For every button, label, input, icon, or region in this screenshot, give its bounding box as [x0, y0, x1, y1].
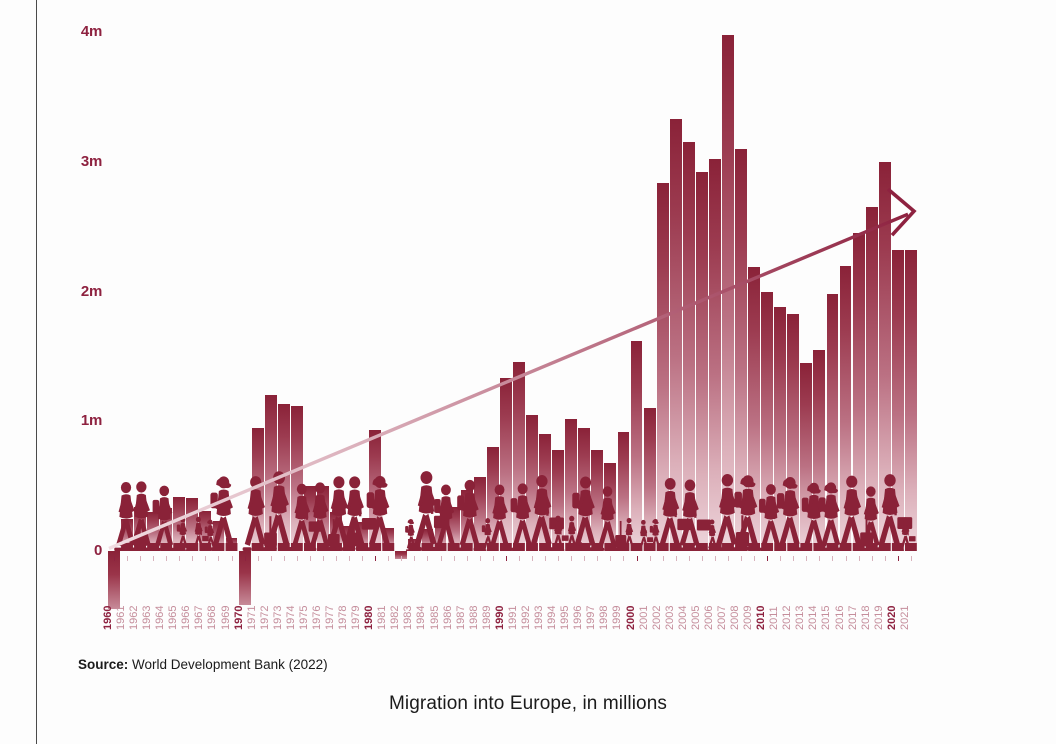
x-axis-tick-mark	[232, 556, 233, 561]
x-axis-tick-mark	[806, 556, 807, 561]
x-axis-tick-mark	[663, 556, 664, 561]
x-axis-tick-mark	[571, 556, 572, 561]
y-axis: 4m3m2m1m0	[0, 0, 102, 744]
x-axis-tick-mark	[793, 556, 794, 561]
x-axis-tick-label: 1973	[272, 606, 284, 630]
x-axis-tick-mark	[297, 556, 298, 561]
y-axis-tick-label: 4m	[81, 23, 102, 40]
x-axis-tick-mark	[767, 556, 768, 561]
chart-title: Migration into Europe, in millions	[0, 693, 1056, 715]
x-axis-tick-label: 1982	[389, 606, 401, 630]
x-axis-tick-mark	[754, 556, 755, 561]
x-axis-tick-mark	[584, 556, 585, 561]
x-axis-tick-label: 1969	[220, 606, 232, 630]
x-axis-tick-mark	[650, 556, 651, 561]
x-axis-tick-label: 1964	[154, 606, 166, 630]
x-axis-tick-label: 1999	[611, 606, 623, 630]
x-axis-tick-mark	[610, 556, 611, 561]
x-axis: 1960196119621963196419651966196719681969…	[108, 556, 918, 636]
x-axis-tick-label: 2010	[755, 606, 767, 630]
x-axis-tick-label: 1974	[285, 606, 297, 630]
x-axis-tick-mark	[454, 556, 455, 561]
source-label: Source:	[78, 657, 128, 672]
x-axis-tick-label: 1983	[402, 606, 414, 630]
x-axis-tick-label: 1965	[167, 606, 179, 630]
x-axis-tick-label: 2012	[781, 606, 793, 630]
x-axis-tick-label: 2013	[794, 606, 806, 630]
x-axis-tick-label: 2016	[834, 606, 846, 630]
x-axis-tick-label: 2014	[807, 606, 819, 630]
x-axis-tick-mark	[205, 556, 206, 561]
x-axis-tick-label: 1991	[507, 606, 519, 630]
x-axis-tick-label: 1963	[141, 606, 153, 630]
source-value: World Development Bank (2022)	[132, 657, 328, 672]
x-axis-tick-label: 1961	[115, 606, 127, 630]
x-axis-tick-label: 1970	[233, 606, 245, 630]
x-axis-tick-mark	[349, 556, 350, 561]
x-axis-tick-mark	[728, 556, 729, 561]
x-axis-tick-mark	[545, 556, 546, 561]
x-axis-tick-label: 1994	[546, 606, 558, 630]
y-axis-tick-label: 0	[94, 542, 102, 559]
x-axis-tick-label: 2005	[690, 606, 702, 630]
x-axis-tick-label: 2017	[847, 606, 859, 630]
x-axis-tick-label: 2001	[638, 606, 650, 630]
x-axis-tick-label: 2009	[742, 606, 754, 630]
x-axis-tick-label: 1997	[585, 606, 597, 630]
x-axis-tick-mark	[819, 556, 820, 561]
x-axis-tick-label: 1972	[259, 606, 271, 630]
x-axis-tick-mark	[179, 556, 180, 561]
x-axis-tick-mark	[140, 556, 141, 561]
x-axis-tick-label: 1962	[128, 606, 140, 630]
x-axis-tick-mark	[741, 556, 742, 561]
x-axis-tick-label: 1986	[442, 606, 454, 630]
plot-area	[108, 32, 918, 551]
x-axis-tick-label: 2020	[886, 606, 898, 630]
x-axis-tick-mark	[637, 556, 638, 561]
x-axis-tick-mark	[519, 556, 520, 561]
x-axis-tick-mark	[885, 556, 886, 561]
x-axis-tick-mark	[271, 556, 272, 561]
x-axis-tick-label: 2002	[651, 606, 663, 630]
x-axis-tick-label: 1996	[572, 606, 584, 630]
x-axis-tick-mark	[375, 556, 376, 561]
x-axis-tick-mark	[597, 556, 598, 561]
x-axis-tick-label: 2018	[860, 606, 872, 630]
x-axis-tick-label: 2006	[703, 606, 715, 630]
source-caption: Source: World Development Bank (2022)	[78, 657, 328, 672]
x-axis-tick-label: 1995	[559, 606, 571, 630]
x-axis-tick-mark	[480, 556, 481, 561]
x-axis-tick-label: 1979	[350, 606, 362, 630]
x-axis-tick-mark	[859, 556, 860, 561]
x-axis-tick-label: 1968	[206, 606, 218, 630]
x-axis-tick-label: 1967	[193, 606, 205, 630]
x-axis-tick-label: 2021	[899, 606, 911, 630]
x-axis-tick-label: 1998	[598, 606, 610, 630]
x-axis-tick-mark	[558, 556, 559, 561]
y-axis-tick-label: 3m	[81, 153, 102, 170]
x-axis-tick-label: 1980	[363, 606, 375, 630]
x-axis-tick-label: 2003	[664, 606, 676, 630]
x-axis-tick-mark	[401, 556, 402, 561]
x-axis-tick-mark	[323, 556, 324, 561]
x-axis-tick-mark	[310, 556, 311, 561]
x-axis-tick-mark	[218, 556, 219, 561]
y-axis-tick-label: 2m	[81, 283, 102, 300]
x-axis-tick-mark	[832, 556, 833, 561]
document-page: 4m3m2m1m0 196019611962196319641965196619…	[0, 0, 1056, 744]
x-axis-tick-mark	[245, 556, 246, 561]
x-axis-tick-label: 2015	[820, 606, 832, 630]
x-axis-tick-label: 1984	[415, 606, 427, 630]
x-axis-tick-mark	[898, 556, 899, 561]
x-axis-tick-mark	[414, 556, 415, 561]
x-axis-tick-mark	[388, 556, 389, 561]
x-axis-tick-mark	[427, 556, 428, 561]
x-axis-tick-mark	[362, 556, 363, 561]
x-axis-tick-label: 1989	[481, 606, 493, 630]
x-axis-tick-label: 1971	[246, 606, 258, 630]
x-axis-tick-mark	[676, 556, 677, 561]
x-axis-tick-label: 2000	[625, 606, 637, 630]
x-axis-tick-mark	[192, 556, 193, 561]
x-axis-tick-label: 1978	[337, 606, 349, 630]
x-axis-tick-mark	[153, 556, 154, 561]
x-axis-tick-mark	[166, 556, 167, 561]
x-axis-tick-label: 2007	[716, 606, 728, 630]
x-axis-tick-label: 1990	[494, 606, 506, 630]
x-axis-tick-label: 1985	[429, 606, 441, 630]
x-axis-tick-label: 2011	[768, 606, 780, 630]
x-axis-tick-mark	[702, 556, 703, 561]
x-axis-tick-label: 1977	[324, 606, 336, 630]
x-axis-tick-mark	[872, 556, 873, 561]
x-axis-tick-label: 1993	[533, 606, 545, 630]
x-axis-tick-label: 2019	[873, 606, 885, 630]
x-axis-tick-mark	[284, 556, 285, 561]
x-axis-tick-label: 1975	[298, 606, 310, 630]
x-axis-tick-label: 2004	[677, 606, 689, 630]
x-axis-tick-mark	[623, 556, 624, 561]
x-axis-tick-mark	[506, 556, 507, 561]
x-axis-tick-label: 1992	[520, 606, 532, 630]
x-axis-tick-mark	[467, 556, 468, 561]
y-axis-tick-label: 1m	[81, 412, 102, 429]
x-axis-tick-mark	[127, 556, 128, 561]
trend-arrow-annotation	[108, 32, 918, 551]
x-axis-tick-mark	[911, 556, 912, 561]
x-axis-tick-mark	[715, 556, 716, 561]
x-axis-tick-mark	[846, 556, 847, 561]
x-axis-tick-mark	[689, 556, 690, 561]
x-axis-tick-label: 1981	[376, 606, 388, 630]
x-axis-tick-mark	[493, 556, 494, 561]
x-axis-tick-mark	[258, 556, 259, 561]
x-axis-tick-label: 1976	[311, 606, 323, 630]
x-axis-tick-label: 2008	[729, 606, 741, 630]
x-axis-tick-mark	[336, 556, 337, 561]
migration-bar-chart: 4m3m2m1m0 196019611962196319641965196619…	[0, 0, 1056, 744]
x-axis-tick-mark	[532, 556, 533, 561]
x-axis-tick-label: 1988	[468, 606, 480, 630]
x-axis-tick-mark	[441, 556, 442, 561]
x-axis-tick-label: 1987	[455, 606, 467, 630]
x-axis-tick-mark	[114, 556, 115, 561]
x-axis-tick-label: 1966	[180, 606, 192, 630]
x-axis-tick-label: 1960	[102, 606, 114, 630]
x-axis-tick-mark	[780, 556, 781, 561]
